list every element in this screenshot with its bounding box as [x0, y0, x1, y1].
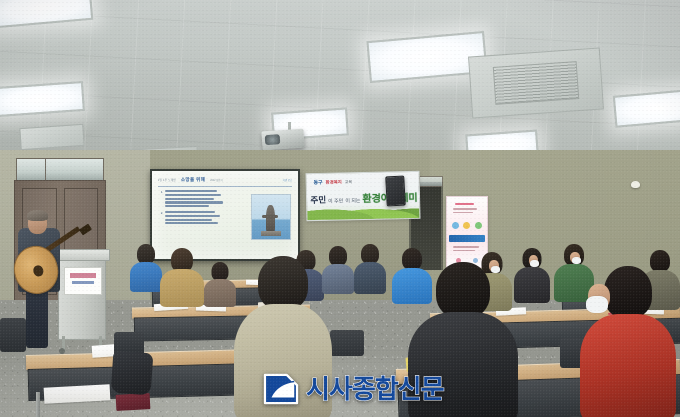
slide-statue-image — [251, 194, 291, 240]
podium-sign-line — [72, 281, 94, 284]
watermark: 시사종합신문 — [262, 372, 444, 406]
slide-tag-left: 1일 1주 노래방 — [158, 178, 176, 182]
attendee-torso — [354, 262, 386, 294]
podium-sign — [64, 267, 103, 295]
lectern-podium — [58, 252, 106, 340]
ceiling-vent-small — [19, 124, 84, 150]
statue-figure-icon — [266, 205, 274, 232]
statue-pedestal — [261, 231, 281, 236]
attendee-1 — [130, 244, 162, 290]
x-banner-text-line — [453, 208, 477, 210]
x-banner-text-line — [453, 250, 475, 252]
ceiling-projector — [261, 129, 304, 151]
banner-org: 동구 — [313, 178, 322, 185]
attendee-head — [604, 266, 652, 318]
slide-header: 1일 1주 노래방 소망을 위해 2022 상반기 기관 로고 — [158, 175, 292, 187]
banner-category: 교육 — [345, 179, 352, 185]
attendee-7 — [354, 244, 386, 292]
ac-ceiling-vent — [468, 47, 604, 118]
attendee-torso — [514, 267, 550, 303]
recycle-icon — [452, 222, 459, 229]
attendee-torso — [160, 269, 204, 307]
notebook — [116, 393, 151, 411]
watermark-text: 시사종합신문 — [306, 376, 444, 402]
earth-icon — [475, 222, 482, 229]
attendee-3 — [204, 262, 236, 306]
attendee-torso — [130, 262, 162, 292]
face-mask — [530, 260, 539, 267]
attendee-torso — [204, 279, 236, 307]
chair-backrest — [0, 318, 26, 352]
attendee-torso — [580, 314, 676, 417]
slide-logo: 기관 로고 — [283, 178, 292, 182]
x-banner-text-line — [453, 212, 474, 214]
seminar-room-photograph: 1일 1주 노래방 소망을 위해 2022 상반기 기관 로고 1. 2. — [0, 0, 680, 417]
ceiling-light-5 — [613, 88, 680, 128]
podium-top — [56, 249, 110, 261]
slide-bullet: 2. — [161, 211, 243, 224]
x-banner-strip — [449, 235, 484, 242]
attendee-2 — [160, 248, 204, 306]
x-banner-text-line — [453, 246, 479, 248]
projector-lens — [265, 134, 280, 144]
bullet-number: 1. — [161, 190, 164, 207]
bullet-number: 2. — [161, 211, 164, 224]
table-leg — [36, 392, 40, 417]
slide-bullet-list: 1. 2. — [161, 190, 243, 228]
performer-hair — [27, 210, 48, 221]
door-transom-window — [16, 158, 104, 182]
face-mask — [572, 257, 581, 264]
slide-title: 소망을 위해 — [181, 177, 205, 183]
chair-backrest — [330, 330, 364, 356]
newspaper-book-logo-icon — [262, 372, 300, 406]
leaf-icon — [463, 222, 470, 229]
attendee-head — [137, 244, 155, 264]
attendee-head — [258, 256, 308, 310]
attendee-head — [361, 244, 379, 264]
bag-on-floor — [111, 351, 154, 396]
attendee-13 — [580, 266, 676, 417]
x-banner-title-line — [455, 203, 474, 205]
attendee-11 — [514, 248, 550, 302]
bullet-text-lines — [165, 211, 220, 224]
wall-speaker — [385, 176, 406, 207]
attendee-head — [436, 262, 490, 318]
slide-tag-right: 2022 상반기 — [210, 178, 223, 182]
ceiling-light-2 — [0, 81, 85, 117]
podium-sign-line — [70, 273, 96, 277]
wall-sensor-icon — [631, 181, 640, 188]
x-banner-icon-row — [450, 221, 484, 231]
slide-bullet: 1. — [161, 190, 243, 207]
projected-slide: 1일 1주 노래방 소망을 위해 2022 상반기 기관 로고 1. 2. — [152, 171, 298, 259]
face-mask — [586, 296, 608, 313]
guitar-soundhole — [33, 265, 45, 278]
bullet-text-lines — [165, 190, 223, 207]
banner-topic: 환경복지 — [326, 179, 342, 185]
